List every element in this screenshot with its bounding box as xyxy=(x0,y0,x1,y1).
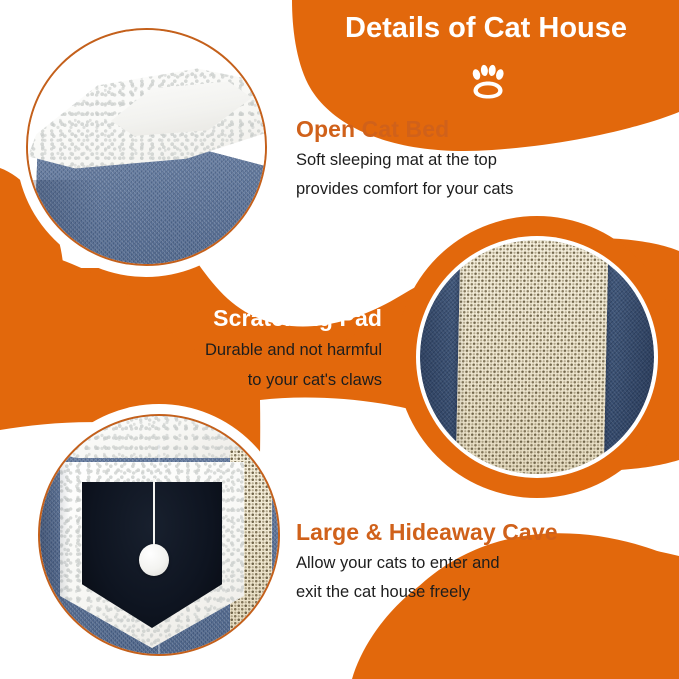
feature-body-scratching-pad-line1: Durable and not harmful xyxy=(120,340,382,362)
feature-heading-open-cat-bed: Open Cat Bed xyxy=(296,116,656,143)
cat-bed-photo xyxy=(26,28,267,266)
hideaway-cave-photo-inner xyxy=(40,416,278,654)
feature-block-open-cat-bed: Open Cat Bed Soft sleeping mat at the to… xyxy=(296,116,656,201)
feature-body-open-cat-bed-line1: Soft sleeping mat at the top xyxy=(296,150,656,172)
feature-heading-hideaway-cave: Large & Hideaway Cave xyxy=(296,519,666,546)
feature-block-scratching-pad: Scratching Pad Durable and not harmful t… xyxy=(120,305,382,392)
paw-print-icon xyxy=(468,62,508,102)
cat-bed-photo-inner xyxy=(28,30,265,264)
sisal-pad-panel xyxy=(455,240,608,474)
cat-house-details-infographic: Details of Cat House xyxy=(0,0,679,679)
feature-block-hideaway-cave: Large & Hideaway Cave Allow your cats to… xyxy=(296,519,666,604)
feature-body-scratching-pad-line2: to your cat's claws xyxy=(120,370,382,392)
pompom-ball xyxy=(139,544,169,576)
page-title: Details of Cat House xyxy=(300,12,672,45)
feature-body-open-cat-bed-line2: provides comfort for your cats xyxy=(296,179,656,201)
hideaway-cave-photo xyxy=(38,414,280,656)
scratching-pad-right-shadow xyxy=(604,240,654,474)
pompom-string xyxy=(153,478,155,550)
cave-left-shadow xyxy=(40,416,70,654)
cat-bed-shadow xyxy=(28,180,100,264)
feature-body-hideaway-cave-line2: exit the cat house freely xyxy=(296,582,666,604)
scratching-pad-photo-inner xyxy=(420,240,654,474)
feature-body-hideaway-cave-line1: Allow your cats to enter and xyxy=(296,553,666,575)
feature-heading-scratching-pad: Scratching Pad xyxy=(120,305,382,332)
scratching-pad-photo xyxy=(420,240,654,474)
scratching-pad-left-shadow xyxy=(420,240,466,474)
